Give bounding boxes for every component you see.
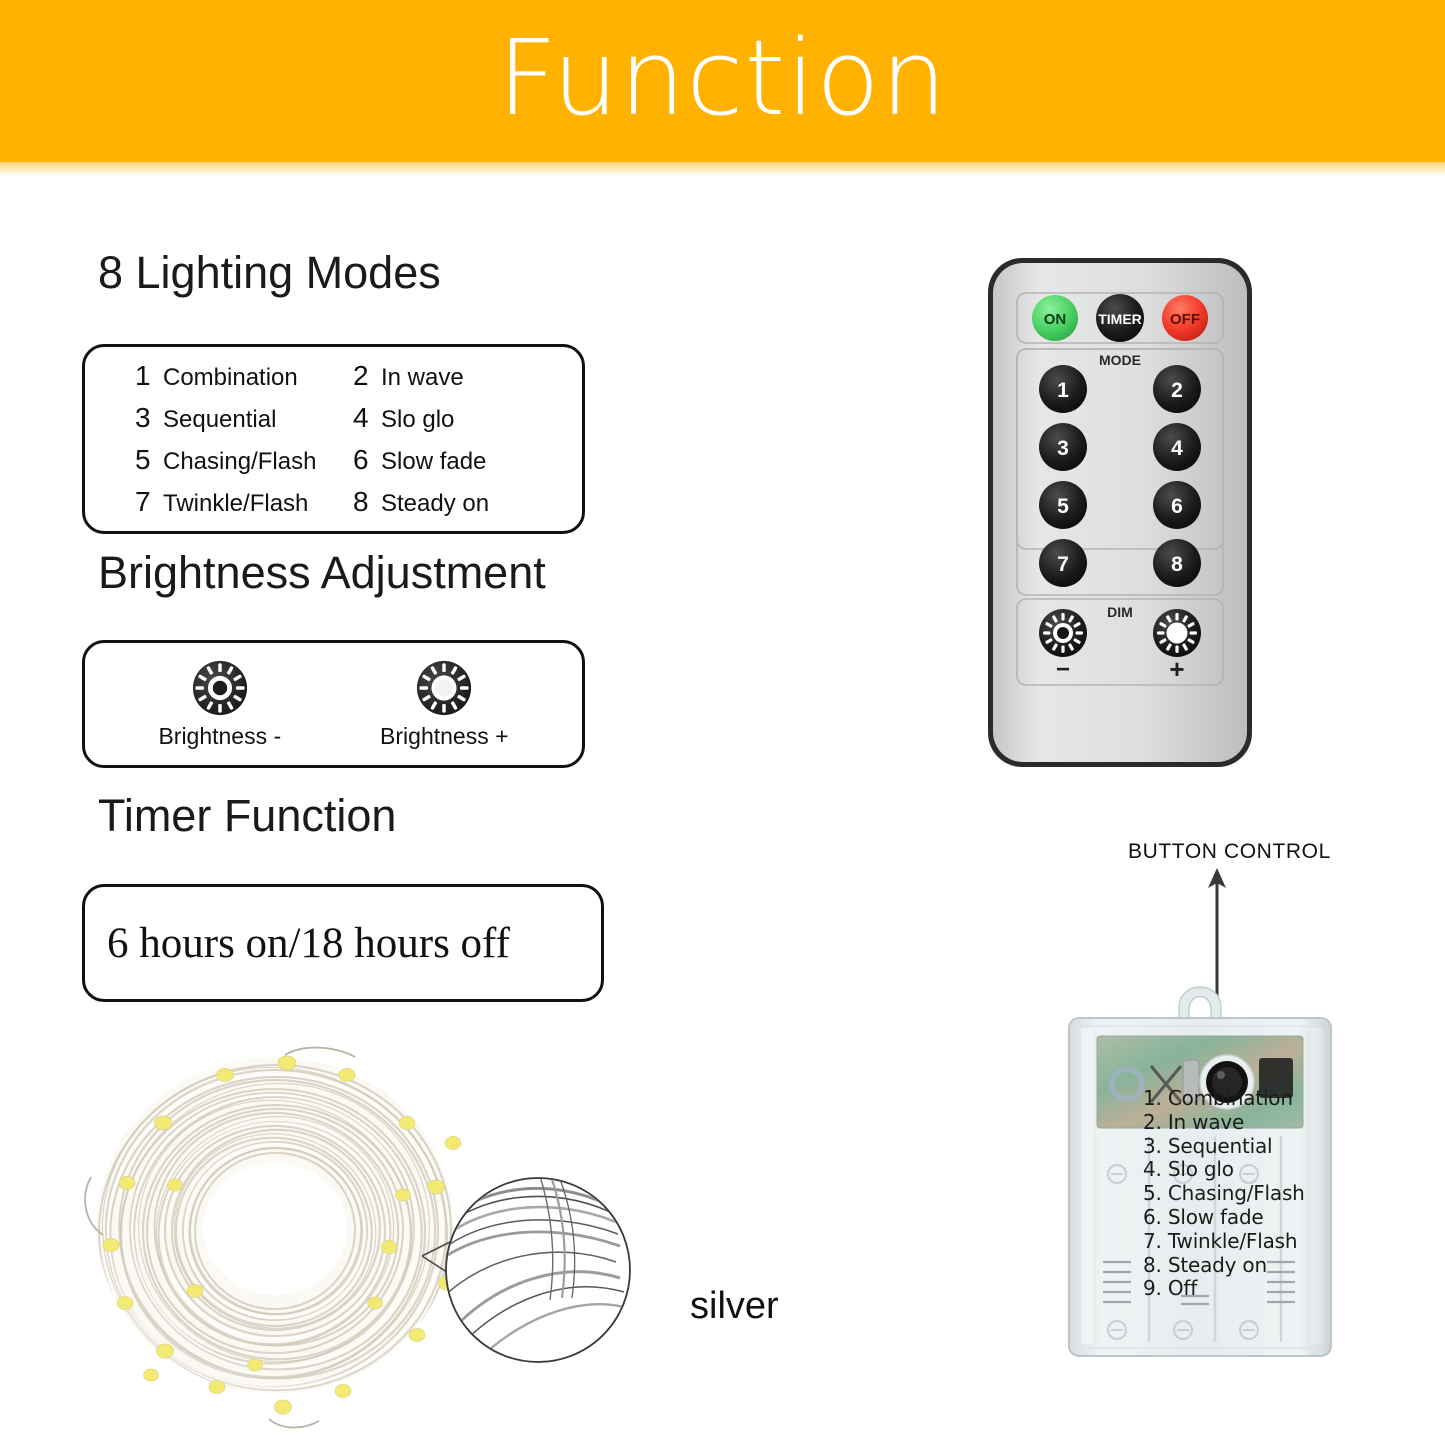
brightness-minus-cell: Brightness - xyxy=(158,659,281,750)
svg-text:ON: ON xyxy=(1044,311,1067,328)
svg-text:+: + xyxy=(1169,654,1184,684)
mode-label: Twinkle/Flash xyxy=(163,490,308,518)
svg-text:TIMER: TIMER xyxy=(1098,311,1142,327)
brightness-down-icon xyxy=(191,659,249,717)
brightness-plus-label: Brightness + xyxy=(380,723,509,750)
battery-mode-item: 9. Off xyxy=(1143,1277,1343,1301)
svg-text:DIM: DIM xyxy=(1107,604,1133,620)
mode-number: 4 xyxy=(353,402,369,434)
silver-callout-label: silver xyxy=(690,1285,779,1328)
mode-item: 4 Slo glo xyxy=(353,402,582,434)
lighting-modes-grid: 1 Combination 2 In wave 3 Sequential 4 S… xyxy=(85,347,582,531)
battery-mode-item: 6. Slow fade xyxy=(1143,1206,1343,1230)
mode-item: 8 Steady on xyxy=(353,486,582,518)
timer-value: 6 hours on/18 hours off xyxy=(85,919,510,968)
mode-label: Slow fade xyxy=(381,448,486,476)
header-banner: Function xyxy=(0,0,1445,162)
battery-mode-item: 2. In wave xyxy=(1143,1111,1343,1135)
mode-number: 7 xyxy=(135,486,151,518)
mode-label: Steady on xyxy=(381,490,489,518)
brightness-row: Brightness - xyxy=(85,643,582,765)
mode-item: 6 Slow fade xyxy=(353,444,582,476)
mode-number: 6 xyxy=(353,444,369,476)
brightness-heading: Brightness Adjustment xyxy=(98,547,546,599)
mode-item: 7 Twinkle/Flash xyxy=(135,486,353,518)
mode-label: Slo glo xyxy=(381,406,454,434)
svg-text:1: 1 xyxy=(1057,379,1069,402)
mode-item: 5 Chasing/Flash xyxy=(135,444,353,476)
svg-text:MODE: MODE xyxy=(1099,352,1141,368)
wire-zoom-callout xyxy=(420,1160,710,1390)
battery-box-mode-list: 1. Combination 2. In wave 3. Sequential … xyxy=(1143,1087,1343,1301)
mode-label: Combination xyxy=(163,364,298,392)
remote-control-image: ON TIMER OFF MODE 1 2 3 4 5 6 7 8 xyxy=(985,255,1255,770)
mode-item: 1 Combination xyxy=(135,360,353,392)
brightness-up-icon xyxy=(415,659,473,717)
mode-number: 1 xyxy=(135,360,151,392)
battery-mode-item: 7. Twinkle/Flash xyxy=(1143,1230,1343,1254)
brightness-plus-cell: Brightness + xyxy=(380,659,509,750)
svg-text:2: 2 xyxy=(1171,379,1183,402)
mode-number: 5 xyxy=(135,444,151,476)
svg-text:7: 7 xyxy=(1057,553,1069,576)
svg-text:−: − xyxy=(1056,656,1070,683)
mode-label: Chasing/Flash xyxy=(163,448,316,476)
mode-number: 2 xyxy=(353,360,369,392)
mode-label: In wave xyxy=(381,364,464,392)
battery-mode-item: 1. Combination xyxy=(1143,1087,1343,1111)
svg-text:4: 4 xyxy=(1171,437,1183,460)
mode-label: Sequential xyxy=(163,406,276,434)
timer-heading: Timer Function xyxy=(98,790,396,842)
battery-mode-item: 4. Slo glo xyxy=(1143,1158,1343,1182)
timer-box: 6 hours on/18 hours off xyxy=(82,884,604,1002)
lighting-modes-box: 1 Combination 2 In wave 3 Sequential 4 S… xyxy=(82,344,585,534)
mode-number: 3 xyxy=(135,402,151,434)
mode-number: 8 xyxy=(353,486,369,518)
battery-mode-item: 8. Steady on xyxy=(1143,1254,1343,1278)
lighting-modes-heading: 8 Lighting Modes xyxy=(98,247,441,299)
page-title: Function xyxy=(497,26,947,130)
brightness-box: Brightness - xyxy=(82,640,585,768)
svg-text:5: 5 xyxy=(1057,495,1069,518)
remote-power-row: ON TIMER OFF xyxy=(1032,294,1208,342)
battery-mode-item: 3. Sequential xyxy=(1143,1135,1343,1159)
battery-mode-item: 5. Chasing/Flash xyxy=(1143,1182,1343,1206)
svg-text:8: 8 xyxy=(1171,553,1183,576)
svg-text:OFF: OFF xyxy=(1170,311,1200,328)
brightness-minus-label: Brightness - xyxy=(158,723,281,750)
svg-text:3: 3 xyxy=(1057,437,1069,460)
mode-item: 2 In wave xyxy=(353,360,582,392)
mode-item: 3 Sequential xyxy=(135,402,353,434)
svg-text:6: 6 xyxy=(1171,495,1183,518)
button-control-label: BUTTON CONTROL xyxy=(1128,840,1331,864)
